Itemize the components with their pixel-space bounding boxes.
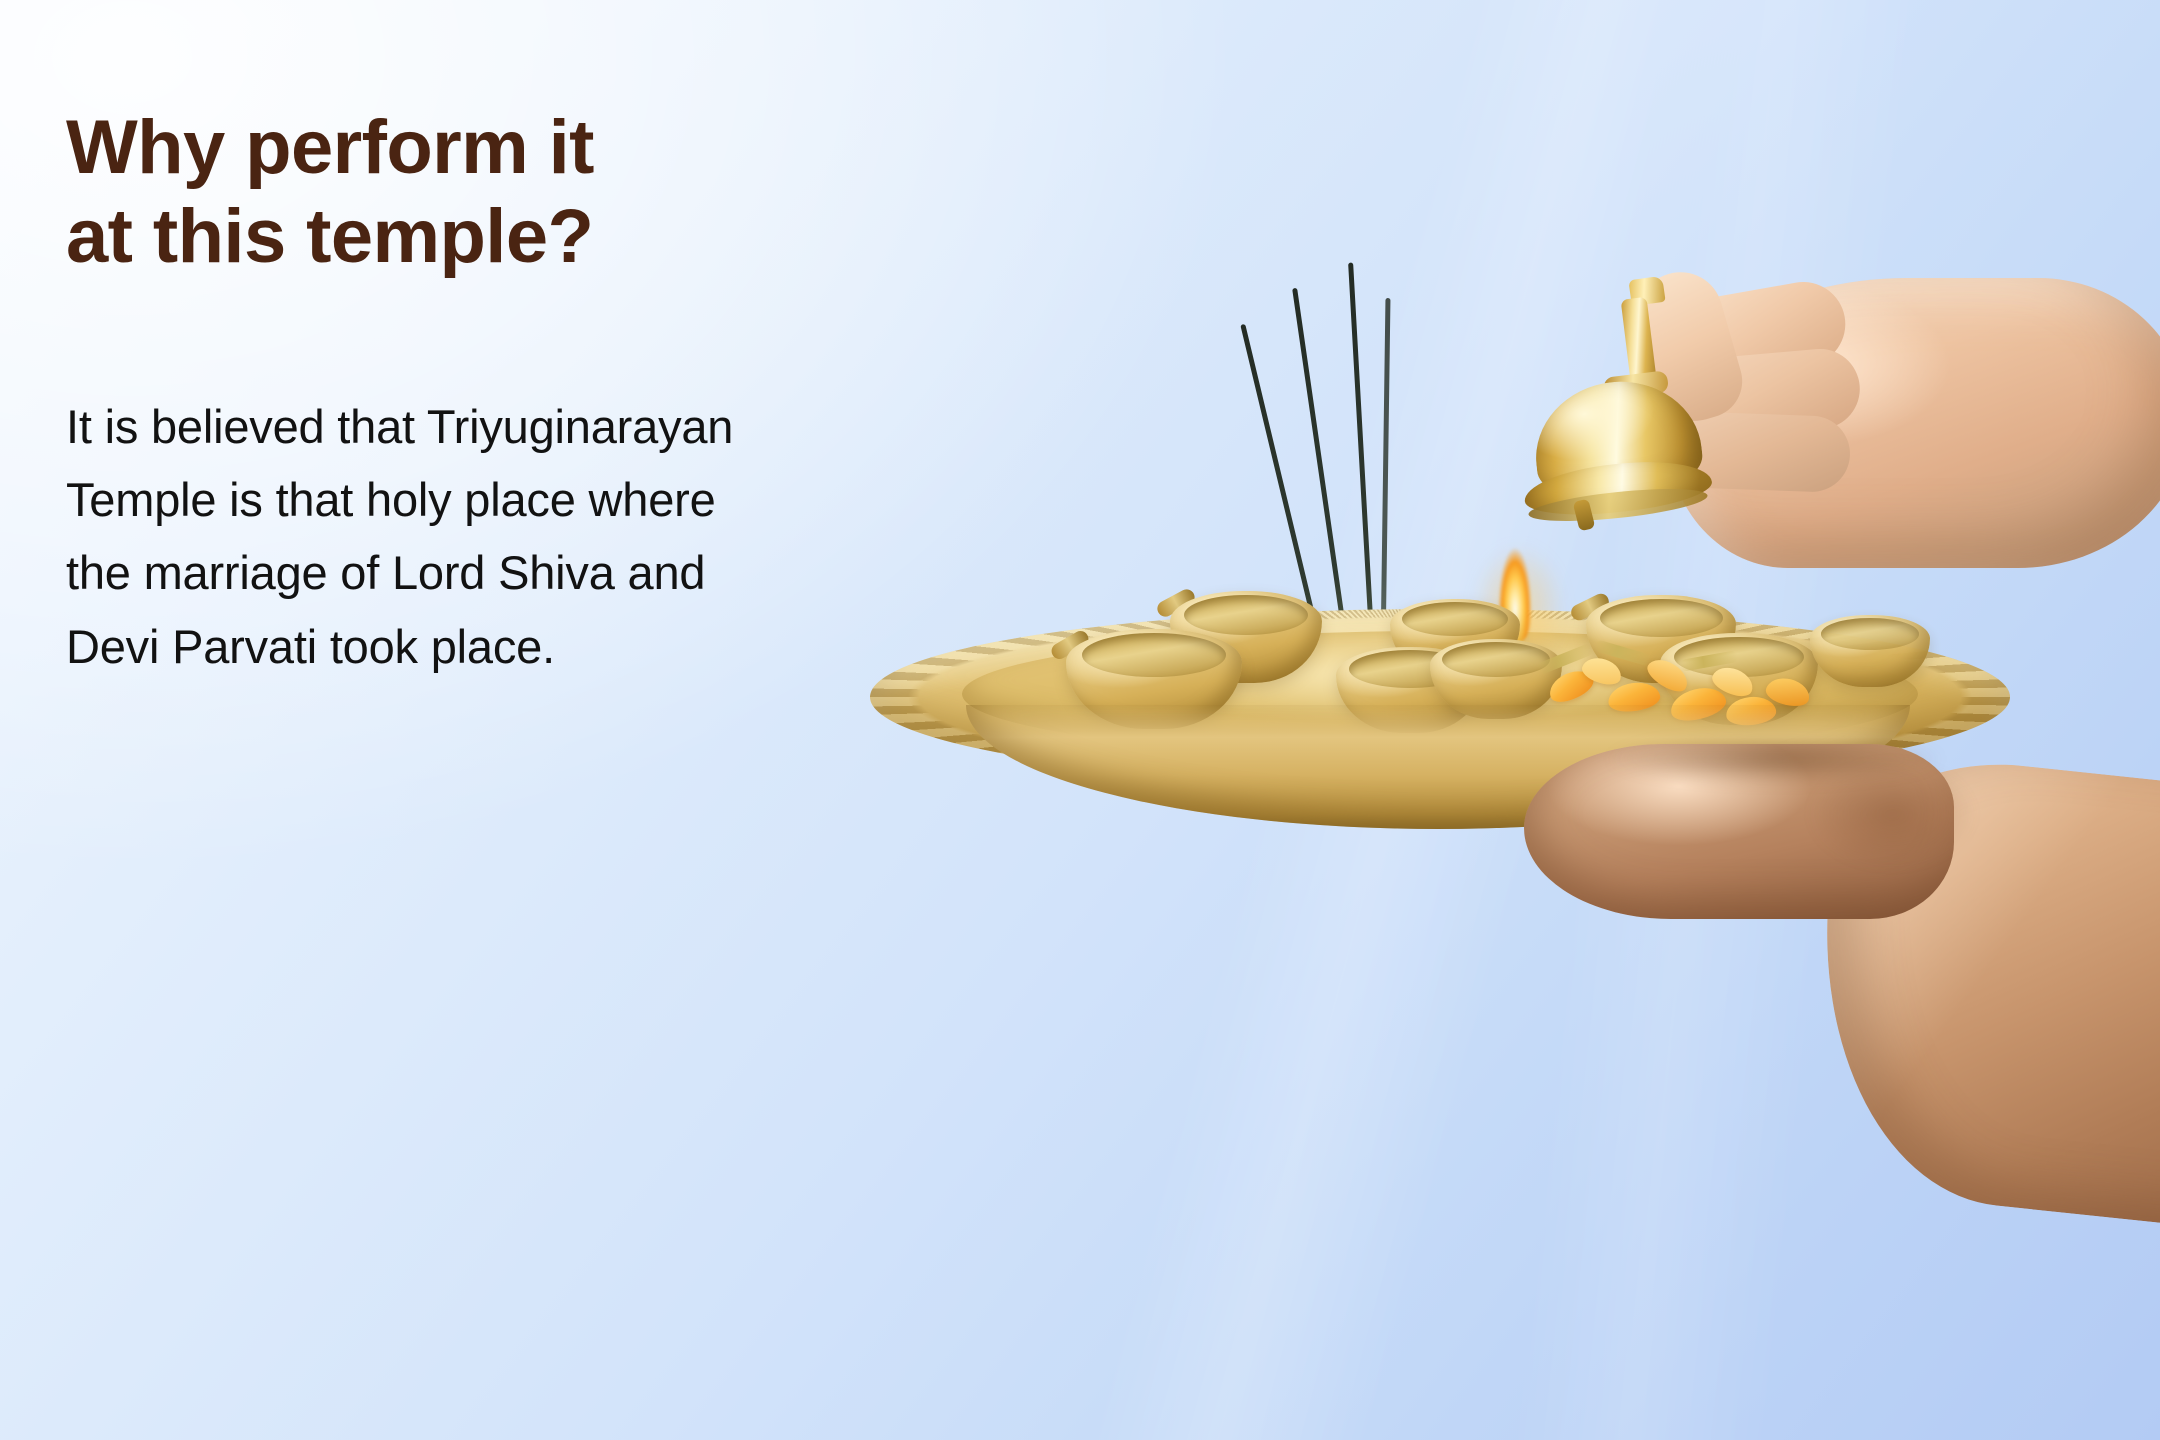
slide-canvas: Why perform it at this temple? It is bel…: [0, 0, 2160, 1440]
body-paragraph: It is believed that Triyuginarayan Templ…: [66, 282, 766, 683]
hand-holding-bell: [1518, 268, 2158, 598]
hand-holding-thali: [1470, 744, 2160, 1214]
puja-thali-photo: [910, 0, 2160, 1440]
page-title: Why perform it at this temple?: [66, 104, 1026, 282]
brass-bell-icon: [1518, 278, 1728, 528]
plate-cast-shadow: [1540, 738, 2010, 808]
